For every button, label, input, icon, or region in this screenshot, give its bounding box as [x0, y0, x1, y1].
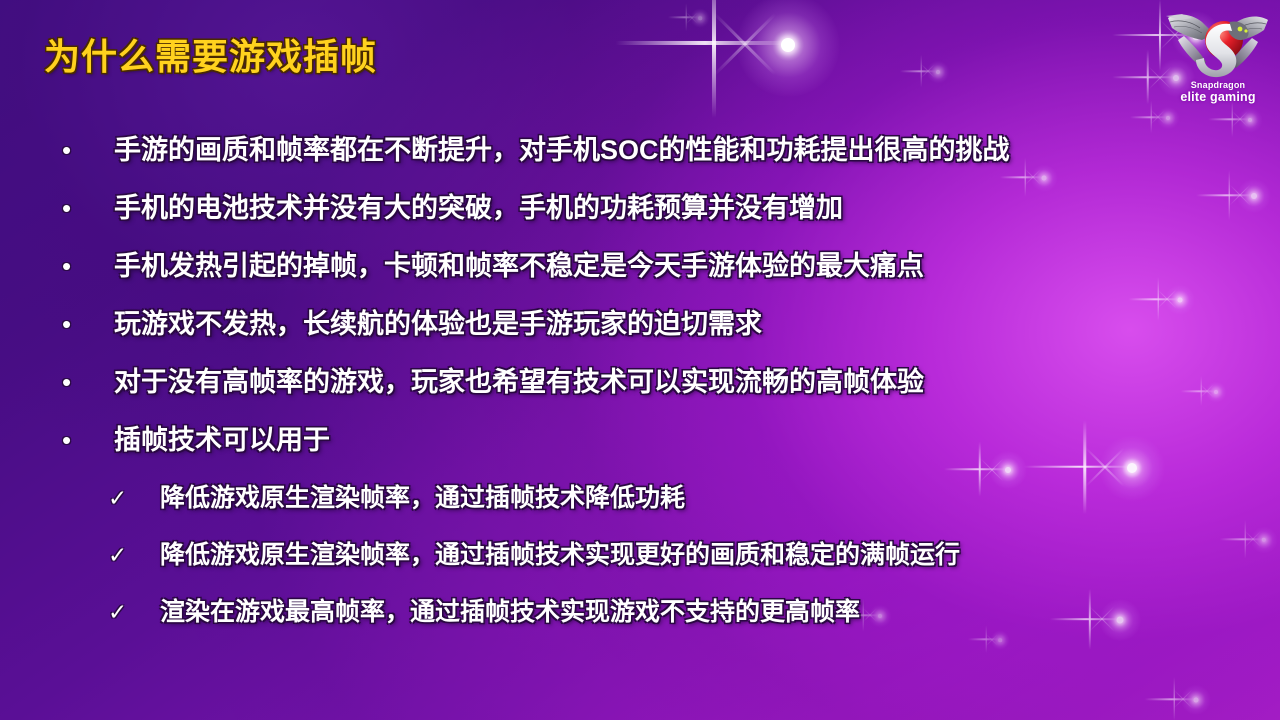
sparkle-icon	[1170, 674, 1221, 720]
presentation-slide: Snapdragon elite gaming 为什么需要游戏插帧 •手游的画质…	[0, 0, 1280, 720]
bullet-text: 手机发热引起的掉帧，卡顿和帧率不稳定是今天手游体验的最大痛点	[114, 244, 924, 288]
sparkle-ray	[712, 0, 716, 117]
sparkle-core	[1166, 116, 1170, 120]
checkmark-icon: ✓	[108, 533, 160, 577]
sparkle-ray	[1151, 110, 1165, 124]
sparkle-core	[781, 38, 795, 52]
bullet-dot-icon: •	[62, 128, 114, 172]
sparkle-ray	[921, 55, 922, 88]
bullet-item: •手游的画质和帧率都在不断提升，对手机SOC的性能和功耗提出很高的挑战	[0, 128, 1280, 186]
bullet-text: 渲染在游戏最高帧率，通过插帧技术实现游戏不支持的更高帧率	[160, 590, 860, 634]
sparkle-glow	[927, 61, 950, 84]
sub-bullet-item: ✓降低游戏原生渲染帧率，通过插帧技术实现更好的画质和稳定的满帧运行	[0, 533, 1280, 590]
sparkle-ray	[1232, 112, 1247, 127]
checkmark-icon: ✓	[108, 476, 160, 520]
sparkle-ray	[921, 64, 935, 78]
sparkle-ray	[686, 11, 698, 23]
bullet-dot-icon: •	[62, 186, 114, 230]
slide-title: 为什么需要游戏插帧	[44, 28, 377, 80]
sparkle-ray	[686, 11, 698, 23]
bullet-text: 对于没有高帧率的游戏，玩家也希望有技术可以实现流畅的高帧体验	[114, 360, 924, 404]
bullet-item: •手机发热引起的掉帧，卡顿和帧率不稳定是今天手游体验的最大痛点	[0, 244, 1280, 302]
sparkle-ray	[615, 41, 788, 45]
bullet-item: •对于没有高帧率的游戏，玩家也希望有技术可以实现流畅的高帧体验	[0, 360, 1280, 418]
bullet-text: 插帧技术可以用于	[114, 418, 330, 462]
sparkle-ray	[1145, 699, 1196, 700]
sparkle-ray	[1232, 112, 1247, 127]
bullet-item: •玩游戏不发热，长续航的体验也是手游玩家的迫切需求	[0, 302, 1280, 360]
sparkle-ray	[1174, 690, 1193, 709]
sub-bullet-item: ✓降低游戏原生渲染帧率，通过插帧技术降低功耗	[0, 476, 1280, 533]
sparkle-ray	[1151, 110, 1165, 124]
sparkle-icon	[919, 53, 957, 91]
bullet-dot-icon: •	[62, 360, 114, 404]
sparkle-ray	[713, 12, 776, 75]
sparkle-ray	[921, 64, 935, 78]
sub-bullet-item: ✓渲染在游戏最高帧率，通过插帧技术实现游戏不支持的更高帧率	[0, 590, 1280, 647]
sparkle-ray	[686, 4, 687, 32]
sparkle-glow	[1181, 685, 1211, 715]
sparkle-core	[936, 70, 940, 74]
logo-line2: elite gaming	[1162, 91, 1274, 105]
sparkle-core	[1248, 118, 1252, 122]
sparkle-ray	[1174, 690, 1193, 709]
bullet-text: 手机的电池技术并没有大的突破，手机的功耗预算并没有增加	[114, 186, 843, 230]
sparkle-ray	[668, 17, 700, 18]
sparkle-ray	[1208, 119, 1250, 120]
snapdragon-dragon-emblem-icon	[1162, 2, 1274, 80]
sparkle-glow	[691, 9, 710, 28]
bullet-text: 玩游戏不发热，长续航的体验也是手游玩家的迫切需求	[114, 302, 762, 346]
slide-body: •手游的画质和帧率都在不断提升，对手机SOC的性能和功耗提出很高的挑战•手机的电…	[0, 128, 1280, 647]
logo-text: Snapdragon elite gaming	[1162, 81, 1274, 104]
sparkle-core	[1193, 697, 1198, 702]
sparkle-ray	[1173, 677, 1174, 720]
sparkle-core	[698, 16, 702, 20]
sparkle-icon	[702, 0, 875, 131]
bullet-dot-icon: •	[62, 302, 114, 346]
bullet-dot-icon: •	[62, 244, 114, 288]
sparkle-ray	[713, 12, 776, 75]
sparkle-icon	[684, 2, 716, 34]
bullet-item: •手机的电池技术并没有大的突破，手机的功耗预算并没有增加	[0, 186, 1280, 244]
bullet-text: 降低游戏原生渲染帧率，通过插帧技术实现更好的画质和稳定的满帧运行	[160, 533, 960, 577]
bullet-text: 手游的画质和帧率都在不断提升，对手机SOC的性能和功耗提出很高的挑战	[114, 128, 1010, 172]
bullet-text: 降低游戏原生渲染帧率，通过插帧技术降低功耗	[160, 476, 685, 520]
sparkle-ray	[900, 71, 938, 72]
sparkle-ray	[1148, 50, 1150, 105]
sparkle-ray	[1130, 117, 1168, 118]
checkmark-icon: ✓	[108, 590, 160, 634]
sparkle-ray	[1159, 0, 1161, 71]
snapdragon-elite-gaming-logo: Snapdragon elite gaming	[1162, 2, 1274, 106]
bullet-item: •插帧技术可以用于	[0, 418, 1280, 476]
sparkle-glow	[737, 0, 840, 96]
sparkle-glow	[1157, 107, 1180, 130]
bullet-dot-icon: •	[62, 418, 114, 462]
